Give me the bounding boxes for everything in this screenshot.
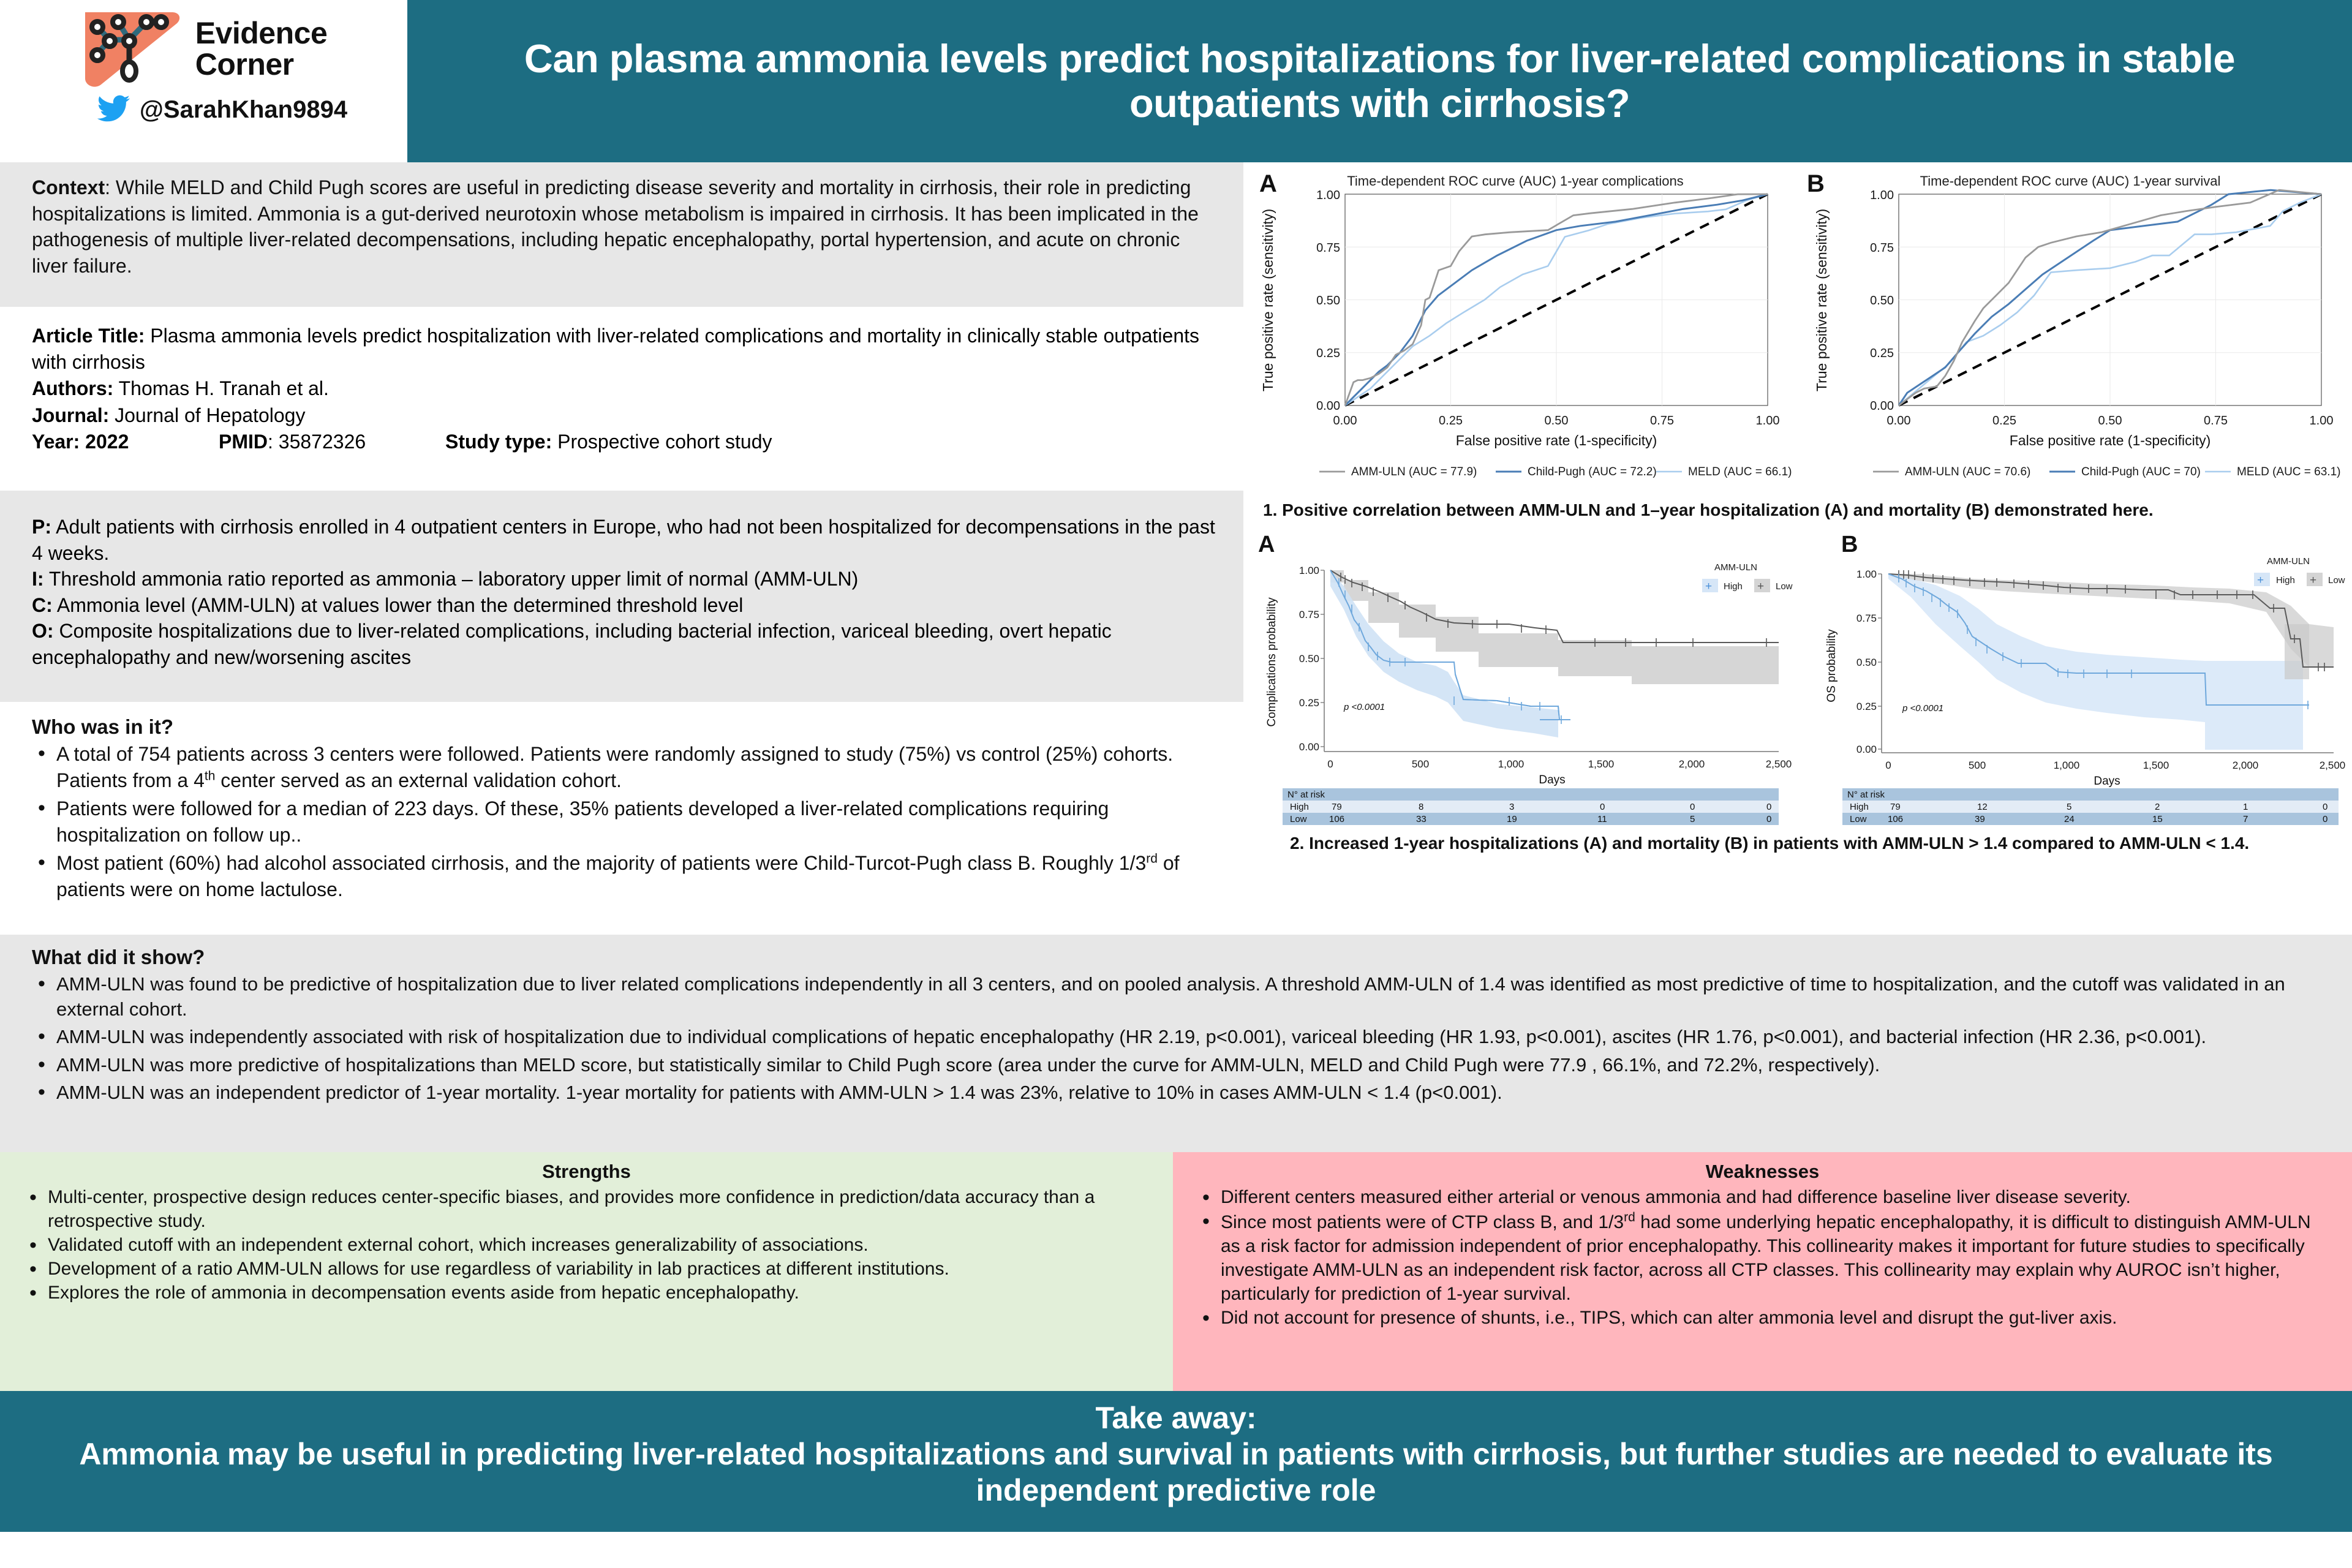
main-body: Context: While MELD and Child Pugh score… <box>0 162 2352 935</box>
who-bullet-3: Most patient (60%) had alcohol associate… <box>32 850 1215 902</box>
figure-caption-1: 1. Positive correlation between AMM-ULN … <box>1252 500 2352 520</box>
svg-text:0.25: 0.25 <box>1992 414 2016 428</box>
year-label: Year: <box>32 431 80 453</box>
strengths-bullet-2: Validated cutoff with an independent ext… <box>21 1233 1152 1257</box>
weaknesses-title: Weaknesses <box>1194 1161 2331 1183</box>
svg-text:1.00: 1.00 <box>1870 189 1894 202</box>
who-bullet-2: Patients were followed for a median of 2… <box>32 796 1215 848</box>
journal-line: Journal: Journal of Hepatology <box>32 402 1215 429</box>
weaknesses-bullet-3: Did not account for presence of shunts, … <box>1194 1306 2331 1330</box>
svg-text:79: 79 <box>1890 802 1901 812</box>
svg-text:15: 15 <box>2152 814 2163 824</box>
strengths-bullet-1: Multi-center, prospective design reduces… <box>21 1185 1152 1233</box>
svg-text:MELD (AUC = 63.1): MELD (AUC = 63.1) <box>2237 466 2340 478</box>
svg-text:19: 19 <box>1507 814 1517 824</box>
km-a-pvalue: p <0.0001 <box>1343 702 1385 712</box>
svg-text:0: 0 <box>1327 758 1333 770</box>
svg-text:12: 12 <box>1977 802 1988 812</box>
year-cell: Year: 2022 <box>32 429 219 455</box>
weaknesses-bullet-list: Different centers measured either arteri… <box>1194 1185 2331 1330</box>
year-pmid-studytype-row: Year: 2022 PMID: 35872326 Study type: Pr… <box>32 429 1215 455</box>
svg-text:AMM-ULN (AUC = 70.6): AMM-ULN (AUC = 70.6) <box>1905 466 2030 478</box>
takeaway-section: Take away: Ammonia may be useful in pred… <box>0 1391 2352 1532</box>
what-did-it-show-section: What did it show? AMM-ULN was found to b… <box>0 935 2352 1152</box>
weaknesses-bullet-1: Different centers measured either arteri… <box>1194 1185 2331 1209</box>
svg-text:0.25: 0.25 <box>1316 347 1340 360</box>
strengths-bullet-list: Multi-center, prospective design reduces… <box>21 1185 1152 1305</box>
svg-text:0.50: 0.50 <box>1316 294 1340 307</box>
journal-label: Journal: <box>32 404 109 426</box>
svg-text:AMM-ULN (AUC = 77.9): AMM-ULN (AUC = 77.9) <box>1351 466 1477 478</box>
roc-b-xlabel: False positive rate (1-specificity) <box>2010 432 2211 448</box>
svg-text:Child-Pugh (AUC = 72.2): Child-Pugh (AUC = 72.2) <box>1528 466 1657 478</box>
svg-text:500: 500 <box>1412 758 1429 770</box>
svg-text:0: 0 <box>1690 802 1695 812</box>
show-bullet-list: AMM-ULN was found to be predictive of ho… <box>32 971 2324 1105</box>
svg-text:1,500: 1,500 <box>1588 758 1615 770</box>
studytype-label: Study type: <box>445 431 552 453</box>
roc-figure-pair: A Time-dependent ROC curve (AUC) 1-year … <box>1252 162 2352 499</box>
brand-block: Evidence Corner @SarahKhan9894 <box>0 0 407 162</box>
svg-text:11: 11 <box>1597 814 1607 824</box>
svg-text:0.75: 0.75 <box>2204 414 2228 428</box>
svg-text:0: 0 <box>1885 759 1891 771</box>
brand-top-row: Evidence Corner <box>80 6 328 92</box>
context-body: : While MELD and Child Pugh scores are u… <box>32 176 1199 277</box>
svg-text:1.00: 1.00 <box>1756 414 1780 428</box>
svg-text:MELD (AUC = 66.1): MELD (AUC = 66.1) <box>1688 466 1792 478</box>
svg-text:0: 0 <box>1766 814 1771 824</box>
context-label: Context <box>32 176 105 198</box>
page-title: Can plasma ammonia levels predict hospit… <box>435 37 2324 126</box>
article-title-label: Article Title: <box>32 325 145 347</box>
svg-text:AMM-ULN: AMM-ULN <box>2267 556 2310 567</box>
strengths-panel: Strengths Multi-center, prospective desi… <box>0 1152 1173 1391</box>
svg-text:3: 3 <box>1509 802 1514 812</box>
svg-text:+: + <box>1757 580 1764 593</box>
svg-text:High: High <box>1850 802 1869 812</box>
roc-panel-b: B Time-dependent ROC curve (AUC) 1-year … <box>1801 162 2352 499</box>
authors-line: Authors: Thomas H. Tranah et al. <box>32 375 1215 402</box>
km-a-xlabel: Days <box>1539 774 1565 786</box>
takeaway-heading: Take away: <box>73 1401 2278 1436</box>
svg-text:39: 39 <box>1975 814 1985 824</box>
km-b-panel-letter: B <box>1841 532 1858 557</box>
svg-text:1.00: 1.00 <box>1316 189 1340 202</box>
svg-text:33: 33 <box>1416 814 1427 824</box>
roc-a-xlabel: False positive rate (1-specificity) <box>1456 432 1657 448</box>
pico-population: P: Adult patients with cirrhosis enrolle… <box>32 514 1215 566</box>
km-b-xlabel: Days <box>2094 775 2120 788</box>
svg-text:0.25: 0.25 <box>1870 347 1894 360</box>
svg-text:0: 0 <box>2323 802 2327 812</box>
svg-text:Low: Low <box>1290 814 1307 824</box>
strengths-bullet-4: Explores the role of ammonia in decompen… <box>21 1281 1152 1305</box>
km-b-ylabel: OS probability <box>1825 629 1838 703</box>
strengths-bullet-3: Development of a ratio AMM-ULN allows fo… <box>21 1257 1152 1281</box>
svg-text:0: 0 <box>1766 802 1771 812</box>
svg-text:0: 0 <box>1600 802 1605 812</box>
svg-text:0.00: 0.00 <box>1299 741 1319 753</box>
svg-text:2,500: 2,500 <box>2320 759 2346 771</box>
svg-text:1.00: 1.00 <box>1299 565 1319 576</box>
svg-text:0.75: 0.75 <box>1870 241 1894 255</box>
svg-text:0.25: 0.25 <box>1439 414 1463 428</box>
svg-text:1,000: 1,000 <box>1498 758 1525 770</box>
svg-text:0.75: 0.75 <box>1316 241 1340 255</box>
svg-text:+: + <box>2310 574 2316 587</box>
svg-text:2,000: 2,000 <box>1679 758 1705 770</box>
poster-title-banner: Can plasma ammonia levels predict hospit… <box>407 0 2352 162</box>
svg-text:0.75: 0.75 <box>1299 609 1319 620</box>
svg-text:High: High <box>2276 575 2295 586</box>
svg-text:0.75: 0.75 <box>1650 414 1674 428</box>
brand-name: Evidence Corner <box>195 18 328 80</box>
svg-text:0.50: 0.50 <box>1545 414 1569 428</box>
who-bullet-list: A total of 754 patients across 3 centers… <box>32 741 1215 902</box>
km-a-panel-letter: A <box>1258 532 1275 557</box>
km-b-pvalue: p <0.0001 <box>1902 703 1943 714</box>
roc-b-ylabel: True positive rate (sensitivity) <box>1814 209 1830 391</box>
context-text: Context: While MELD and Child Pugh score… <box>32 175 1215 279</box>
svg-text:500: 500 <box>1969 759 1986 771</box>
roc-b-title: Time-dependent ROC curve (AUC) 1-year su… <box>1920 173 2221 189</box>
svg-text:0.00: 0.00 <box>1333 414 1357 428</box>
show-bullet-3: AMM-ULN was more predictive of hospitali… <box>32 1052 2324 1077</box>
svg-text:1.00: 1.00 <box>1856 568 1877 580</box>
twitter-handle-text: @SarahKhan9894 <box>140 96 347 124</box>
weaknesses-panel: Weaknesses Different centers measured ei… <box>1173 1152 2352 1391</box>
roc-a-panel-letter: A <box>1259 170 1277 197</box>
svg-text:0.50: 0.50 <box>1299 653 1319 665</box>
pico-o-label: O: <box>32 620 54 642</box>
svg-text:+: + <box>2257 574 2264 587</box>
svg-text:0.00: 0.00 <box>1856 744 1877 755</box>
pico-c-text: Ammonia level (AMM-ULN) at values lower … <box>53 594 744 616</box>
pico-comparator: C: Ammonia level (AMM-ULN) at values low… <box>32 592 1215 619</box>
svg-text:High: High <box>1724 581 1743 592</box>
pmid-label: PMID <box>219 431 268 453</box>
km-a-risk-header: N° at risk <box>1287 790 1325 800</box>
roc-b-panel-letter: B <box>1807 170 1825 197</box>
right-column-figures: A Time-dependent ROC curve (AUC) 1-year … <box>1243 162 2352 935</box>
strengths-title: Strengths <box>21 1161 1152 1183</box>
svg-text:1: 1 <box>2243 802 2248 812</box>
svg-text:8: 8 <box>1419 802 1423 812</box>
who-section: Who was in it? A total of 754 patients a… <box>0 702 1243 935</box>
pico-outcome: O: Composite hospitalizations due to liv… <box>32 618 1215 670</box>
context-section: Context: While MELD and Child Pugh score… <box>0 162 1243 307</box>
svg-text:High: High <box>1290 802 1309 812</box>
svg-text:106: 106 <box>1329 814 1344 824</box>
km-a-risk-header-bg <box>1283 788 1779 801</box>
article-title-line: Article Title: Plasma ammonia levels pre… <box>32 323 1215 375</box>
article-title-value: Plasma ammonia levels predict hospitaliz… <box>32 325 1199 373</box>
svg-text:5: 5 <box>1690 814 1695 824</box>
takeaway-text: Ammonia may be useful in predicting live… <box>73 1436 2278 1509</box>
who-heading: Who was in it? <box>32 715 1215 739</box>
show-bullet-4: AMM-ULN was an independent predictor of … <box>32 1080 2324 1105</box>
left-column: Context: While MELD and Child Pugh score… <box>0 162 1243 935</box>
svg-text:2,500: 2,500 <box>1766 758 1792 770</box>
studytype-cell: Study type: Prospective cohort study <box>445 429 772 455</box>
svg-text:24: 24 <box>2064 814 2075 824</box>
svg-text:1,500: 1,500 <box>2143 759 2169 771</box>
svg-text:1.00: 1.00 <box>2310 414 2334 428</box>
svg-text:Child-Pugh (AUC = 70): Child-Pugh (AUC = 70) <box>2081 466 2201 478</box>
brand-name-line2: Corner <box>195 49 328 80</box>
pico-c-label: C: <box>32 594 53 616</box>
pico-o-text: Composite hospitalizations due to liver-… <box>32 620 1112 668</box>
svg-text:0.00: 0.00 <box>1316 399 1340 413</box>
svg-text:0.75: 0.75 <box>1856 612 1877 624</box>
roc-a-ylabel: True positive rate (sensitivity) <box>1260 209 1276 391</box>
authors-value: Thomas H. Tranah et al. <box>113 377 329 399</box>
svg-text:Low: Low <box>1776 581 1793 592</box>
svg-text:0.00: 0.00 <box>1870 399 1894 413</box>
figure-caption-2: 2. Increased 1-year hospitalizations (A)… <box>1252 834 2352 853</box>
km-b-risk-header-bg <box>1842 788 2339 801</box>
journal-value: Journal of Hepatology <box>109 404 305 426</box>
roc-a-title: Time-dependent ROC curve (AUC) 1-year co… <box>1347 173 1683 189</box>
show-heading: What did it show? <box>32 946 2324 969</box>
poster-root: Evidence Corner @SarahKhan9894 Can plasm… <box>0 0 2352 1568</box>
km-panel-a: A AMM-ULN + High + Low <box>1252 526 1797 832</box>
svg-text:0.25: 0.25 <box>1856 701 1877 712</box>
who-bullet-1: A total of 754 patients across 3 centers… <box>32 741 1215 793</box>
km-figure-pair: A AMM-ULN + High + Low <box>1252 526 2352 832</box>
poster-header: Evidence Corner @SarahKhan9894 Can plasm… <box>0 0 2352 162</box>
evidence-corner-logo-icon <box>80 6 184 92</box>
svg-text:0: 0 <box>2323 814 2327 824</box>
svg-text:0.50: 0.50 <box>1870 294 1894 307</box>
svg-text:0.50: 0.50 <box>1856 657 1877 668</box>
show-bullet-2: AMM-ULN was independently associated wit… <box>32 1024 2324 1049</box>
studytype-value: Prospective cohort study <box>552 431 772 453</box>
pmid-cell: PMID: 35872326 <box>219 429 445 455</box>
weaknesses-bullet-2: Since most patients were of CTP class B,… <box>1194 1209 2331 1306</box>
svg-text:79: 79 <box>1332 802 1342 812</box>
show-bullet-1: AMM-ULN was found to be predictive of ho… <box>32 971 2324 1022</box>
svg-text:7: 7 <box>2243 814 2248 824</box>
svg-text:5: 5 <box>2067 802 2071 812</box>
svg-text:106: 106 <box>1888 814 1903 824</box>
roc-b-legend: AMM-ULN (AUC = 70.6) Child-Pugh (AUC = 7… <box>1873 466 2340 478</box>
svg-text:Low: Low <box>2328 575 2345 586</box>
pico-section: P: Adult patients with cirrhosis enrolle… <box>0 491 1243 702</box>
svg-text:2: 2 <box>2155 802 2160 812</box>
svg-text:1,000: 1,000 <box>2054 759 2080 771</box>
pico-intervention: I: Threshold ammonia ratio reported as a… <box>32 566 1215 592</box>
pico-p-label: P: <box>32 516 51 538</box>
svg-text:AMM-ULN: AMM-ULN <box>1714 562 1757 573</box>
pico-i-label: I: <box>32 568 44 590</box>
roc-a-legend: AMM-ULN (AUC = 77.9) Child-Pugh (AUC = 7… <box>1319 466 1792 478</box>
twitter-icon <box>97 94 131 126</box>
km-a-ylabel: Complications probability <box>1265 597 1278 727</box>
km-panel-b: B AMM-ULN + High + Low <box>1801 526 2352 832</box>
svg-text:0.50: 0.50 <box>2098 414 2122 428</box>
svg-text:0.25: 0.25 <box>1299 697 1319 709</box>
pico-p-text: Adult patients with cirrhosis enrolled i… <box>32 516 1215 564</box>
svg-text:+: + <box>1705 580 1712 593</box>
roc-panel-a: A Time-dependent ROC curve (AUC) 1-year … <box>1252 162 1797 499</box>
twitter-handle-row[interactable]: @SarahKhan9894 <box>97 94 347 126</box>
brand-name-line1: Evidence <box>195 18 328 49</box>
km-b-risk-header: N° at risk <box>1847 790 1885 800</box>
svg-text:2,000: 2,000 <box>2233 759 2259 771</box>
pmid-value: : 35872326 <box>268 431 366 453</box>
pico-i-text: Threshold ammonia ratio reported as ammo… <box>44 568 859 590</box>
strengths-weaknesses-row: Strengths Multi-center, prospective desi… <box>0 1152 2352 1391</box>
year-value: 2022 <box>80 431 129 453</box>
authors-label: Authors: <box>32 377 113 399</box>
svg-text:0.00: 0.00 <box>1887 414 1911 428</box>
article-meta-section: Article Title: Plasma ammonia levels pre… <box>0 307 1243 491</box>
svg-text:Low: Low <box>1850 814 1867 824</box>
